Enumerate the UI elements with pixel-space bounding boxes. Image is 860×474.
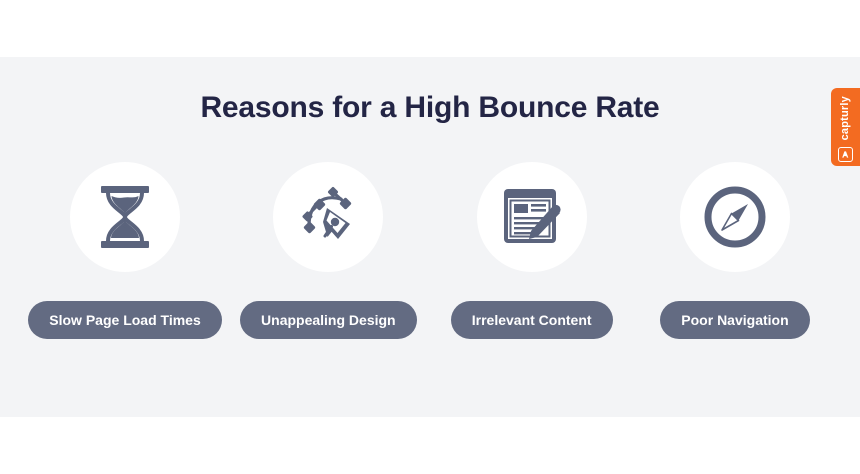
- reason-label-pill[interactable]: Poor Navigation: [660, 301, 809, 339]
- reason-label-pill[interactable]: Unappealing Design: [240, 301, 417, 339]
- reason-card-slow-page-load-times[interactable]: Slow Page Load Times: [30, 162, 220, 339]
- document-pencil-icon: [501, 187, 563, 247]
- compass-icon: [704, 186, 766, 248]
- reason-card-poor-navigation[interactable]: Poor Navigation: [640, 162, 830, 339]
- hourglass-icon: [96, 185, 154, 249]
- page-bottom-whitespace: [0, 417, 860, 474]
- icon-circle: [477, 162, 587, 272]
- capturly-side-tab-label: capturly: [840, 96, 851, 140]
- pen-tool-bezier-icon: [297, 186, 359, 248]
- page-title: Reasons for a High Bounce Rate: [0, 91, 860, 125]
- reason-label-pill[interactable]: Irrelevant Content: [451, 301, 613, 339]
- capturly-side-tab[interactable]: capturly: [831, 88, 860, 166]
- reason-card-unappealing-design[interactable]: Unappealing Design: [233, 162, 423, 339]
- infographic-section: Reasons for a High Bounce Rate: [0, 57, 860, 417]
- icon-circle: [680, 162, 790, 272]
- icon-circle: [70, 162, 180, 272]
- capturly-logo-icon: [838, 147, 853, 162]
- page-top-whitespace: [0, 0, 860, 57]
- reason-card-irrelevant-content[interactable]: Irrelevant Content: [437, 162, 627, 339]
- icon-circle: [273, 162, 383, 272]
- reason-label-pill[interactable]: Slow Page Load Times: [28, 301, 221, 339]
- reasons-row: Slow Page Load Times: [30, 162, 830, 339]
